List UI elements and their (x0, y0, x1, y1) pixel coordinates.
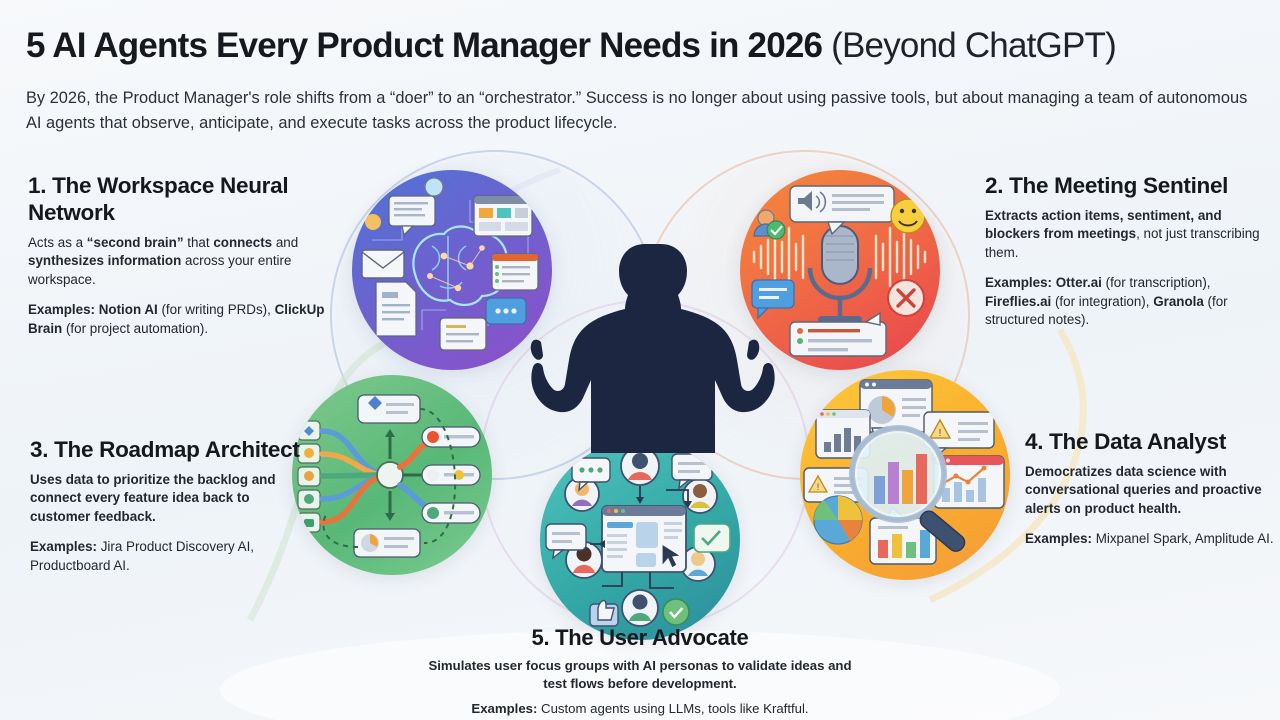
email-icon (362, 250, 404, 278)
priority-pill-medium (422, 465, 480, 485)
dashboard-window-icon (474, 196, 532, 236)
section-data-analyst: 4. The Data Analyst Democratizes data sc… (1025, 428, 1277, 549)
page-title-strong: 5 AI Agents Every Product Manager Needs … (26, 26, 822, 65)
section-3-examples-label: Examples: (30, 539, 97, 554)
section-2-body: Extracts action items, sentiment, and bl… (985, 207, 1263, 262)
section-5-examples: Examples: Custom agents using LLMs, tool… (420, 700, 860, 718)
approval-check-icon (663, 599, 689, 625)
microphone-icon (810, 226, 870, 323)
pie-chart-icon (814, 496, 862, 544)
svg-text:!: ! (817, 482, 820, 492)
flow-ribbons (322, 431, 380, 522)
prototype-window-icon (602, 506, 686, 572)
priority-pill-low (422, 503, 480, 523)
section-3-examples: Examples: Jira Product Discovery AI, Pro… (30, 538, 308, 575)
section-4-heading: 4. The Data Analyst (1025, 428, 1277, 455)
infographic-canvas: 5 AI Agents Every Product Manager Needs … (0, 0, 1280, 720)
priority-pill-high (422, 427, 480, 447)
thumbs-up-icon (590, 601, 618, 626)
blocker-icon (888, 280, 924, 316)
section-2-examples: Examples: Otter.ai (for transcription), … (985, 274, 1263, 329)
section-4-examples: Examples: Mixpanel Spark, Amplitude AI. (1025, 530, 1277, 548)
section-workspace-neural-network: 1. The Workspace Neural Network Acts as … (28, 172, 328, 338)
section-roadmap-architect: 3. The Roadmap Architect Uses data to pr… (30, 436, 308, 575)
analytics-card-icon (354, 529, 420, 557)
section-1-body: Acts as a “second brain” that connects a… (28, 234, 328, 289)
svg-text:!: ! (939, 428, 942, 439)
document-icon (376, 282, 416, 336)
orb-icon (425, 178, 443, 196)
section-1-examples-label: Examples: (28, 302, 95, 317)
section-user-advocate: 5. The User Advocate Simulates user focu… (420, 624, 860, 718)
section-5-examples-label: Examples: (471, 701, 537, 716)
illustration-data-analyst: ! ! (800, 370, 1010, 580)
section-4-examples-label: Examples: (1025, 531, 1092, 546)
page-title: 5 AI Agents Every Product Manager Needs … (26, 26, 1266, 66)
illustration-roadmap-architect (292, 375, 492, 575)
validated-check-icon (694, 524, 730, 552)
page-subtitle: By 2026, the Product Manager's role shif… (26, 86, 1256, 136)
section-1-heading: 1. The Workspace Neural Network (28, 172, 328, 226)
orchestrator-silhouette (505, 238, 785, 453)
section-3-body: Uses data to prioritize the backlog and … (30, 471, 308, 526)
note-card-icon (440, 318, 486, 350)
illustration-user-advocate (540, 440, 740, 640)
section-5-heading: 5. The User Advocate (420, 624, 860, 651)
section-4-body: Democratizes data science with conversat… (1025, 463, 1277, 518)
section-5-body: Simulates user focus groups with AI pers… (420, 657, 860, 693)
section-1-examples: Examples: Notion AI (for writing PRDs), … (28, 301, 328, 338)
initiative-card-icon (358, 395, 420, 423)
section-2-heading: 2. The Meeting Sentinel (985, 172, 1263, 199)
section-meeting-sentinel: 2. The Meeting Sentinel Extracts action … (985, 172, 1263, 329)
speaker-identified-icon (754, 210, 785, 239)
page-title-light: (Beyond ChatGPT) (822, 26, 1116, 65)
section-3-heading: 3. The Roadmap Architect (30, 436, 308, 463)
dot-accent-icon (365, 214, 381, 230)
section-2-examples-label: Examples: (985, 275, 1052, 290)
chat-bubble-icon (389, 196, 435, 235)
